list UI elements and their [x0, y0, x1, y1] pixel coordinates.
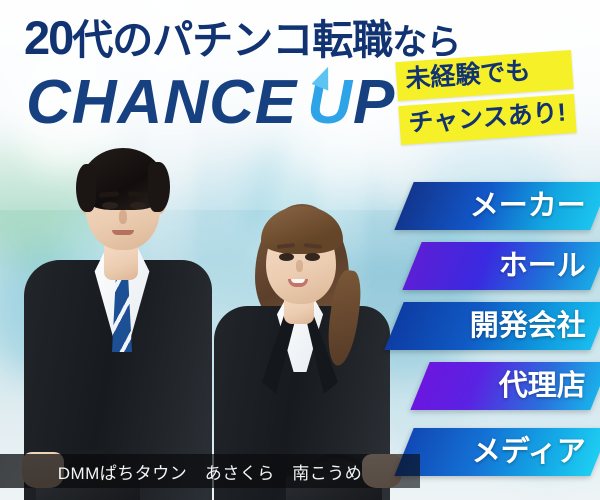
man-eye-left: [102, 202, 118, 209]
woman-eye-right: [305, 253, 320, 261]
man-nose: [119, 210, 127, 224]
photo-caption-text: DMMぱちタウン あさくら 南こうめ: [58, 459, 363, 484]
category-label: メーカー: [470, 192, 600, 221]
category-item-agency[interactable]: 代理店: [410, 362, 600, 410]
category-list: メーカー ホール 開発会社 代理店 メディア: [400, 0, 600, 500]
man-eye-right: [130, 202, 146, 209]
category-label: 代理店: [499, 372, 600, 401]
category-item-media[interactable]: メディア: [394, 428, 600, 476]
category-label: 開発会社: [470, 312, 600, 341]
category-item-maker[interactable]: メーカー: [394, 182, 600, 230]
woman-teeth: [291, 279, 305, 283]
man-hair-side-right: [148, 162, 170, 212]
brand-logo: CHANCEUP: [26, 72, 395, 134]
woman-hair-bangs: [261, 206, 343, 254]
category-item-hall[interactable]: ホール: [402, 242, 600, 290]
logo-word-up: UP: [307, 72, 395, 134]
photo-subjects: [0, 120, 420, 500]
man-mouth: [112, 230, 134, 235]
woman-nose: [296, 260, 303, 272]
woman-eye-left: [279, 253, 294, 261]
photo-caption-bar: DMMぱちタウン あさくら 南こうめ: [0, 454, 420, 488]
man-hair-side-left: [76, 164, 96, 212]
recruitment-banner[interactable]: 20代のパチンコ転職なら CHANCEUP 未経験でも チャンスあり! メーカー…: [0, 0, 600, 500]
category-label: メディア: [472, 438, 600, 467]
category-label: ホール: [499, 252, 600, 281]
page-title: 20代のパチンコ転職なら: [24, 14, 460, 61]
headline-middle: 代のパチンコ転職: [72, 17, 392, 63]
logo-word-chance: CHANCE: [26, 68, 297, 137]
headline-number: 20: [24, 11, 72, 64]
logo-letter-p: P: [353, 68, 395, 137]
category-item-developer[interactable]: 開発会社: [384, 302, 600, 350]
